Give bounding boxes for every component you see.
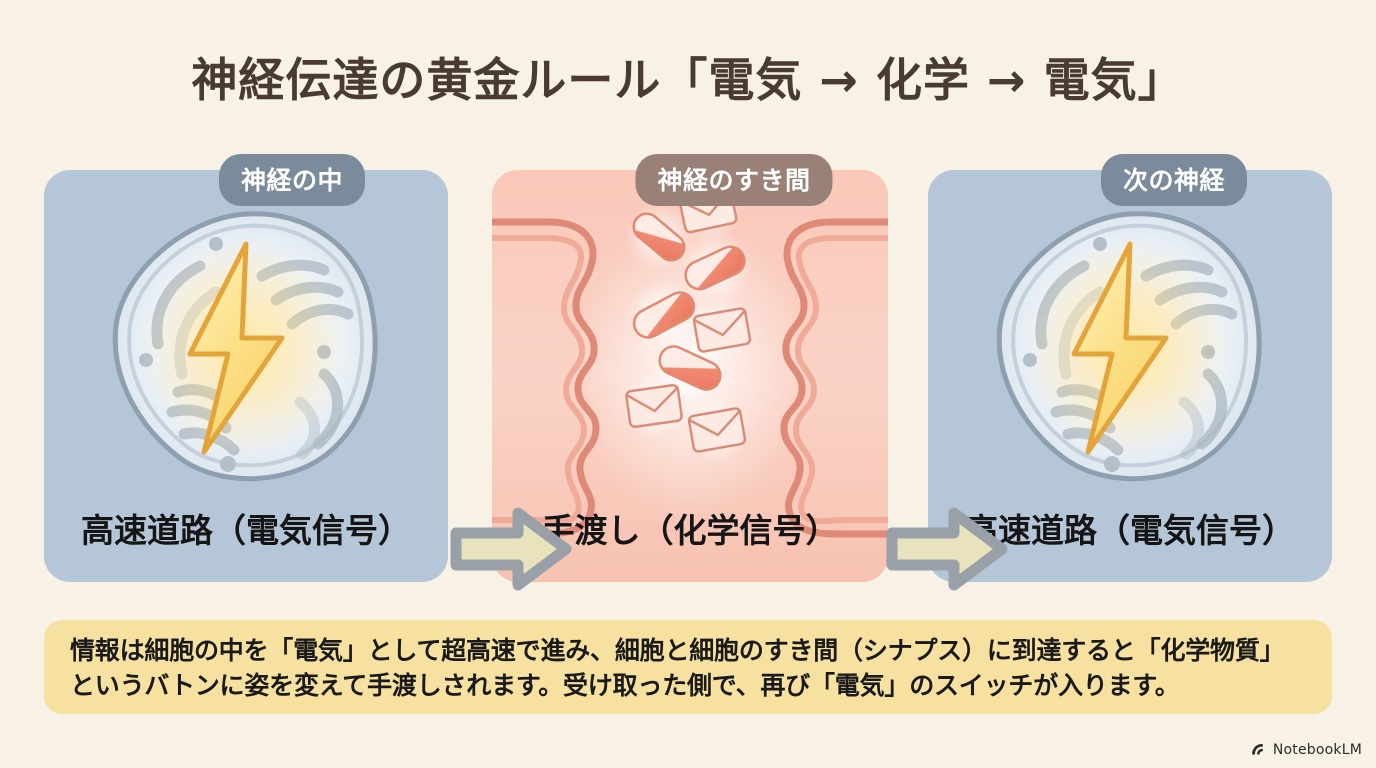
summary-note-line-2: というバトンに姿を変えて手渡しされます。受け取った側で、再び「電気」のスイッチが…: [70, 669, 1306, 704]
summary-note: 情報は細胞の中を「電気」として超高速で進み、細胞と細胞のすき間（シナプス）に到達…: [44, 620, 1332, 714]
panel-caption: 高速道路（電気信号）: [44, 504, 448, 552]
page-title: 神経伝達の黄金ルール「電気 → 化学 → 電気」: [0, 44, 1376, 110]
right-arrow-icon: [448, 501, 576, 597]
cell-with-lightning-bolt-icon: [86, 196, 406, 500]
envelope-icon: [622, 374, 686, 438]
badge-synaptic-gap: 神経のすき間: [635, 154, 832, 206]
envelope-icon: [690, 298, 754, 362]
summary-note-line-1: 情報は細胞の中を「電気」として超高速で進み、細胞と細胞のすき間（シナプス）に到達…: [70, 634, 1306, 669]
cell-with-lightning-bolt-icon: [970, 196, 1290, 500]
envelope-icon: [685, 398, 749, 462]
notebooklm-icon: [1250, 741, 1267, 758]
badge-next-neuron: 次の神経: [1101, 154, 1247, 206]
watermark: NotebookLM: [1250, 741, 1362, 758]
watermark-label: NotebookLM: [1273, 742, 1362, 758]
panel-neuron-inside: 高速道路（電気信号）: [44, 170, 448, 582]
badge-neuron-inside: 神経の中: [219, 154, 365, 206]
diagram-panels: 高速道路（電気信号）: [44, 170, 1332, 582]
right-arrow-icon: [884, 501, 1012, 597]
